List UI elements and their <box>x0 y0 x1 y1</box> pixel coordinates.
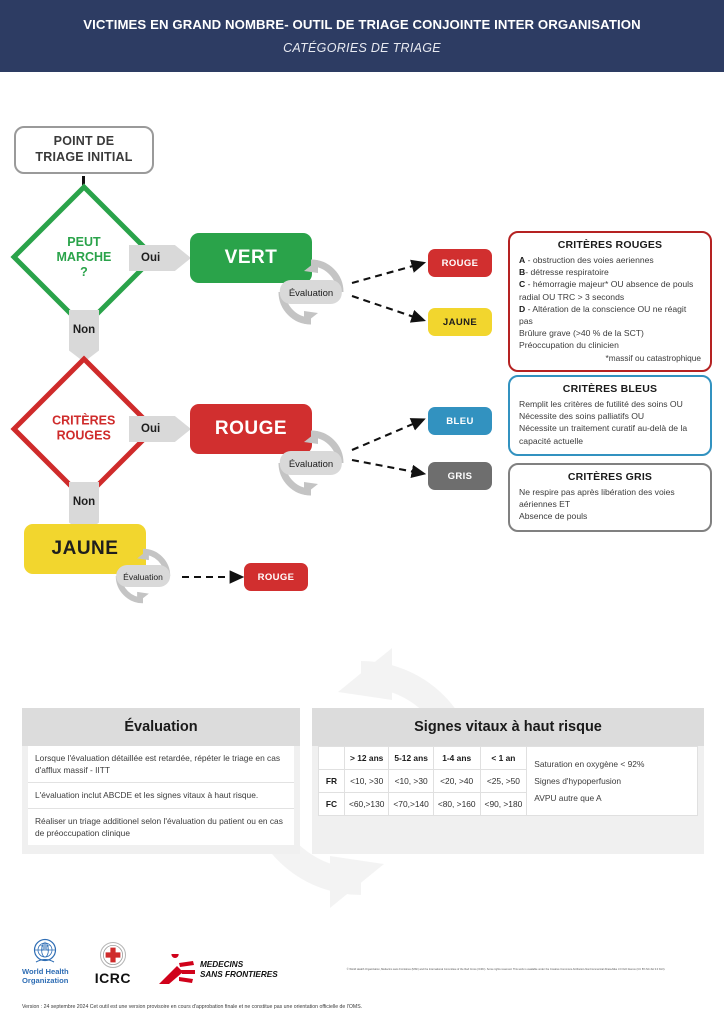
side-note: Signes d'hypoperfusion <box>534 776 690 786</box>
who-emblem-icon <box>30 936 60 966</box>
evaluation-cycle-vert: Évaluation <box>274 255 348 329</box>
evaluation-row: Lorsque l'évaluation détaillée est retar… <box>28 746 294 783</box>
yes-branch-walk: Oui <box>129 245 191 271</box>
criteria-box-blue: CRITÈRES BLEUS Remplit les critères de f… <box>508 375 712 456</box>
criteria-red-line: B- détresse respiratoire <box>519 266 701 278</box>
criteria-blue-line: Nécessite un traitement curatif au-delà … <box>519 422 701 446</box>
criteria-red-line: C - hémorragie majeur* OU absence de pou… <box>519 278 701 302</box>
panel-vital-signs: Signes vitaux à haut risque > 12 ans 5-1… <box>312 708 704 854</box>
copyright-text: © World Health Organization, Médecins sa… <box>296 968 716 972</box>
criteria-red-note: *massif ou catastrophique <box>519 353 701 363</box>
evaluation-row: Réaliser un triage additionel selon l'év… <box>28 809 294 845</box>
evaluation-cycle-rouge: Évaluation <box>274 426 348 500</box>
row-label-fc: FC <box>319 793 345 816</box>
row-label-fr: FR <box>319 770 345 793</box>
decision-can-walk-label: PEUTMARCHE? <box>57 234 112 279</box>
evaluation-label: Évaluation <box>116 565 170 587</box>
msf-running-figure-icon <box>157 954 197 986</box>
no-branch-walk: Non <box>69 310 99 362</box>
criteria-red-line: Préoccupation du clinicien <box>519 339 701 351</box>
evaluation-label: Évaluation <box>280 451 342 475</box>
arrow-vert-to-rouge <box>352 264 420 283</box>
arrow-rouge-to-gris <box>352 460 420 473</box>
cell-fr-under1: <25, >50 <box>480 770 527 793</box>
page-title: VICTIMES EN GRAND NOMBRE- OUTIL DE TRIAG… <box>83 17 640 32</box>
msf-logo: MEDECINS SANS FRONTIERES <box>157 954 278 986</box>
arrow-rouge-to-bleu <box>352 421 420 450</box>
page-header: VICTIMES EN GRAND NOMBRE- OUTIL DE TRIAG… <box>0 0 724 72</box>
evaluation-row: L'évaluation inclut ABCDE et les signes … <box>28 783 294 808</box>
cell-fc-under1: <90, >180 <box>480 793 527 816</box>
side-note: Saturation en oxygène < 92% <box>534 759 690 769</box>
criteria-grey-line: Absence de pouls <box>519 510 701 522</box>
decision-red-criteria-label: CRITÈRESROUGES <box>52 414 115 444</box>
outcome-pill-jaune: JAUNE <box>428 308 492 336</box>
cell-fc-1to4: <80, >160 <box>433 793 480 816</box>
version-text: Version : 24 septembre 2024 Cet outil es… <box>22 1004 712 1010</box>
criteria-red-line: D - Altération de la conscience OU ne ré… <box>519 303 701 327</box>
who-logo: World Health Organization <box>22 936 69 986</box>
vital-signs-side-notes: Saturation en oxygène < 92% Signes d'hyp… <box>527 746 698 816</box>
who-logo-text: World Health Organization <box>22 968 69 986</box>
icrc-logo: ICRC <box>95 941 131 986</box>
table-row: FC <60,>130 <70,>140 <80, >160 <90, >180 <box>319 793 527 816</box>
outcome-pill-rouge-from-jaune: ROUGE <box>244 563 308 591</box>
outcome-pill-bleu: BLEU <box>428 407 492 435</box>
panel-vital-signs-header: Signes vitaux à haut risque <box>312 708 704 746</box>
start-node-label: POINT DETRIAGE INITIAL <box>35 134 132 165</box>
criteria-red-title: CRITÈRES ROUGES <box>519 239 701 251</box>
cell-fr-5to12: <10, >30 <box>389 770 433 793</box>
footer-logos: World Health Organization ICRC MEDECINS <box>22 936 278 986</box>
evaluation-label: Évaluation <box>280 280 342 304</box>
criteria-grey-title: CRITÈRES GRIS <box>519 471 701 483</box>
cell-fc-5to12: <70,>140 <box>389 793 433 816</box>
red-cross-emblem-icon <box>99 941 127 969</box>
criteria-grey-line: Ne respire pas après libération des voie… <box>519 486 701 510</box>
criteria-blue-line: Remplit les critères de futilité des soi… <box>519 398 701 410</box>
table-col-blank <box>319 747 345 770</box>
infographic-page: VICTIMES EN GRAND NOMBRE- OUTIL DE TRIAG… <box>0 0 724 1024</box>
table-col-1to4: 1-4 ans <box>433 747 480 770</box>
panel-evaluation: Évaluation Lorsque l'évaluation détaillé… <box>22 708 300 854</box>
table-col-over12: > 12 ans <box>345 747 389 770</box>
table-col-under1: < 1 an <box>480 747 527 770</box>
evaluation-cycle-jaune: Évaluation <box>112 545 174 607</box>
side-note: AVPU autre que A <box>534 793 690 803</box>
criteria-box-red: CRITÈRES ROUGES A - obstruction des voie… <box>508 231 712 372</box>
table-header-row: > 12 ans 5-12 ans 1-4 ans < 1 an <box>319 747 527 770</box>
criteria-blue-line: Nécessite des soins palliatifs OU <box>519 410 701 422</box>
table-col-5to12: 5-12 ans <box>389 747 433 770</box>
cell-fr-over12: <10, >30 <box>345 770 389 793</box>
cell-fc-over12: <60,>130 <box>345 793 389 816</box>
criteria-box-grey: CRITÈRES GRIS Ne respire pas après libér… <box>508 463 712 532</box>
criteria-blue-title: CRITÈRES BLEUS <box>519 383 701 395</box>
table-row: FR <10, >30 <10, >30 <20, >40 <25, >50 <box>319 770 527 793</box>
outcome-pill-rouge: ROUGE <box>428 249 492 277</box>
arrow-vert-to-jaune <box>352 296 420 319</box>
page-subtitle: CATÉGORIES DE TRIAGE <box>283 41 441 55</box>
vital-signs-table: > 12 ans 5-12 ans 1-4 ans < 1 an FR <10,… <box>318 746 527 816</box>
icrc-logo-text: ICRC <box>95 970 131 986</box>
criteria-red-line: A - obstruction des voies aeriennes <box>519 254 701 266</box>
panel-evaluation-header: Évaluation <box>22 708 300 746</box>
cell-fr-1to4: <20, >40 <box>433 770 480 793</box>
outcome-pill-gris: GRIS <box>428 462 492 490</box>
start-node: POINT DETRIAGE INITIAL <box>14 126 154 174</box>
criteria-red-line: Brûlure grave (>40 % de la SCT) <box>519 327 701 339</box>
yes-branch-red: Oui <box>129 416 191 442</box>
msf-logo-text: MEDECINS SANS FRONTIERES <box>200 960 278 979</box>
